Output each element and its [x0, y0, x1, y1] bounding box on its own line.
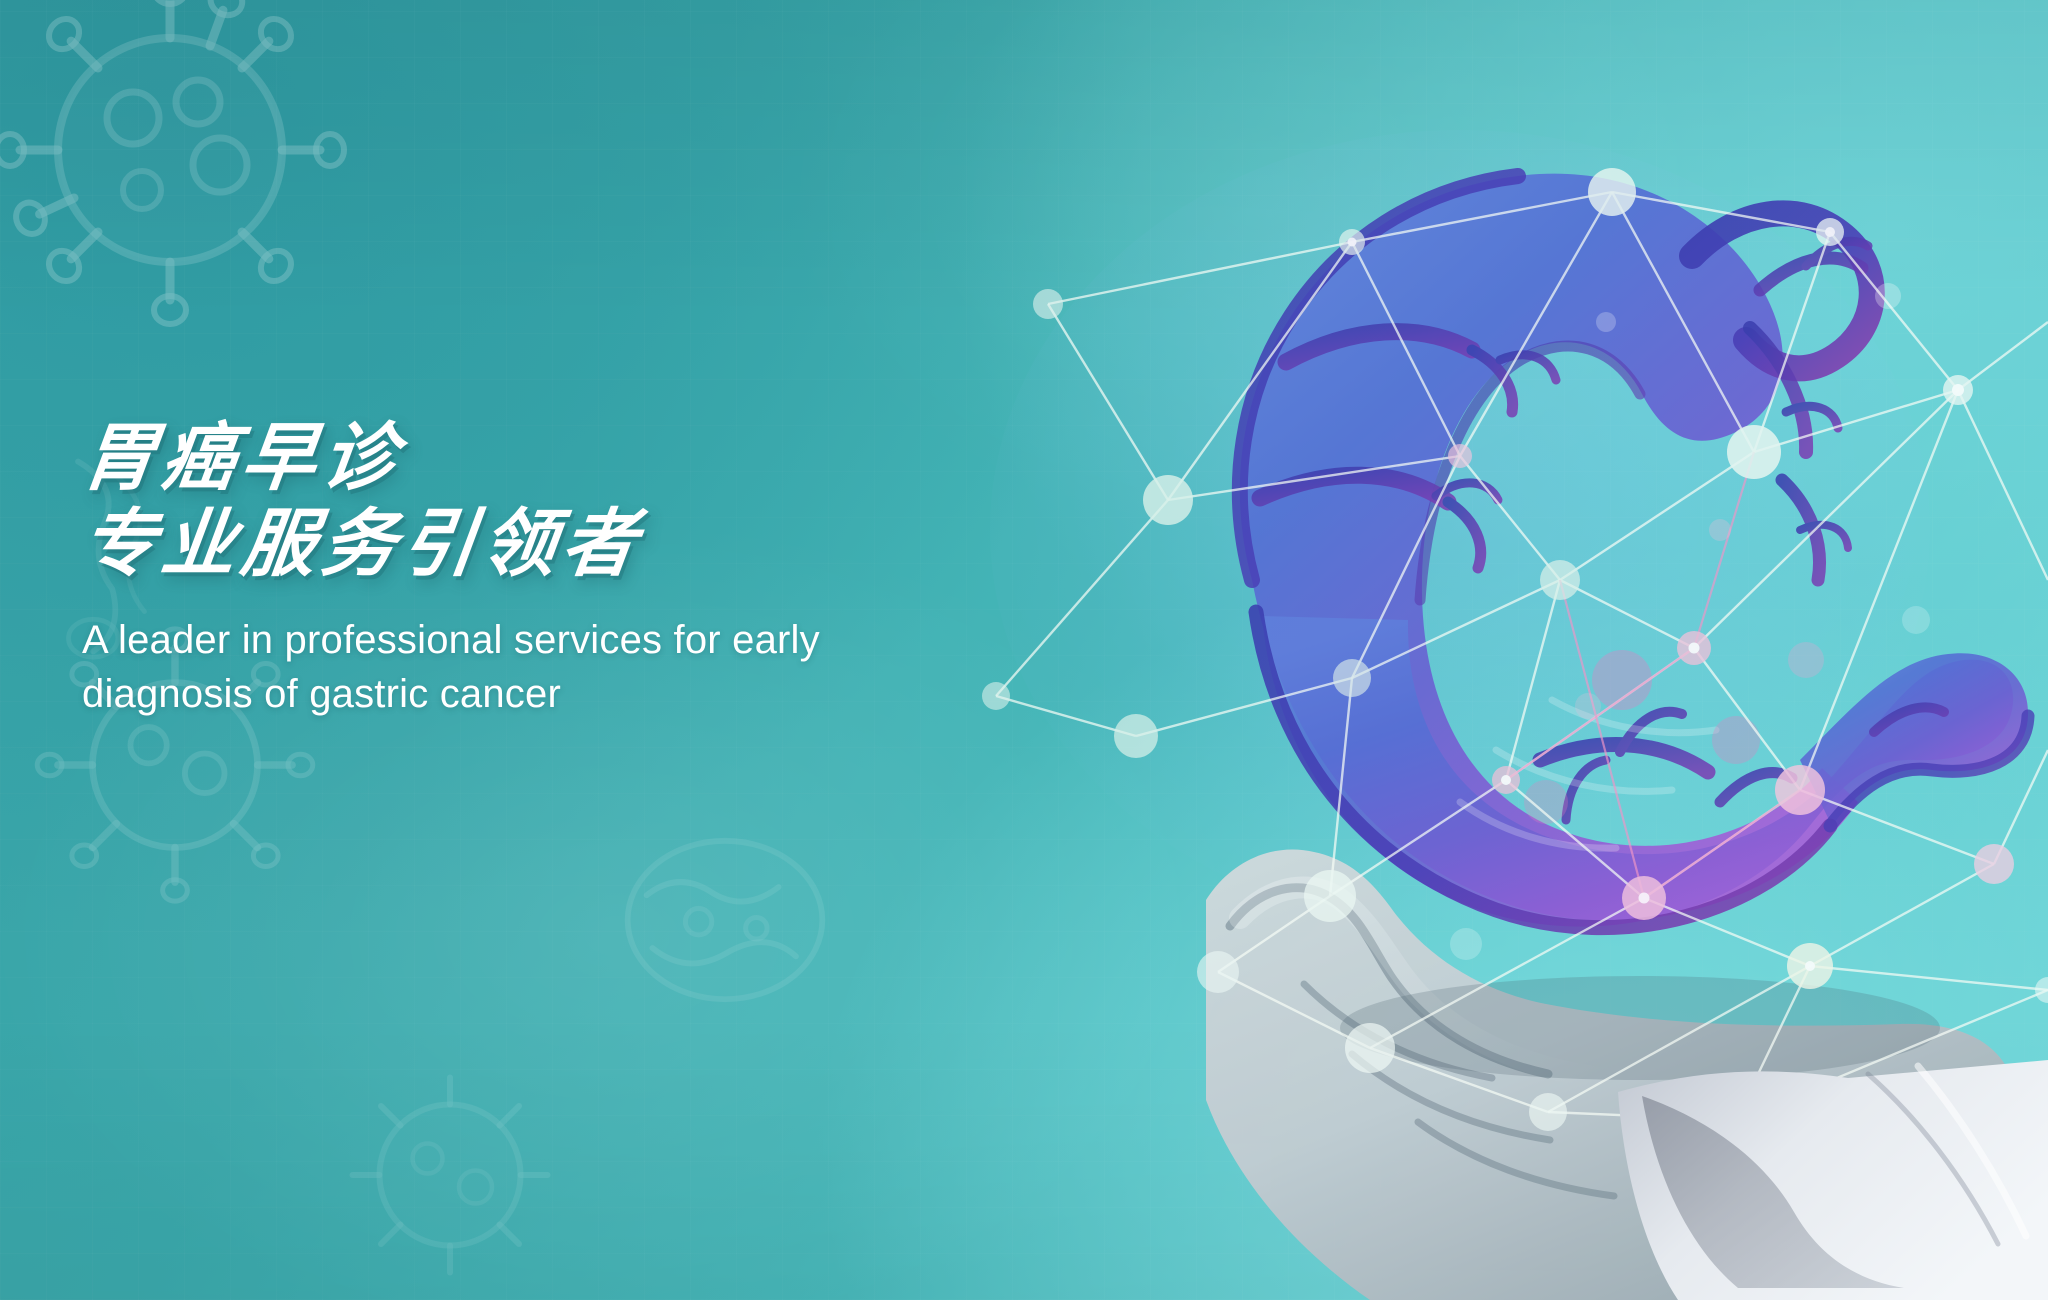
subheadline-line-2: diagnosis of gastric cancer [82, 667, 872, 721]
headline-line-2: 专业服务引领者 [77, 501, 988, 587]
hero-banner: 胃癌早诊 专业服务引领者 A leader in professional se… [0, 0, 2048, 1300]
copy-block: 胃癌早诊 专业服务引领者 A leader in professional se… [82, 415, 982, 721]
headline-line-1: 胃癌早诊 [77, 415, 988, 501]
subheadline: A leader in professional services for ea… [82, 613, 872, 721]
subheadline-line-1: A leader in professional services for ea… [82, 613, 872, 667]
